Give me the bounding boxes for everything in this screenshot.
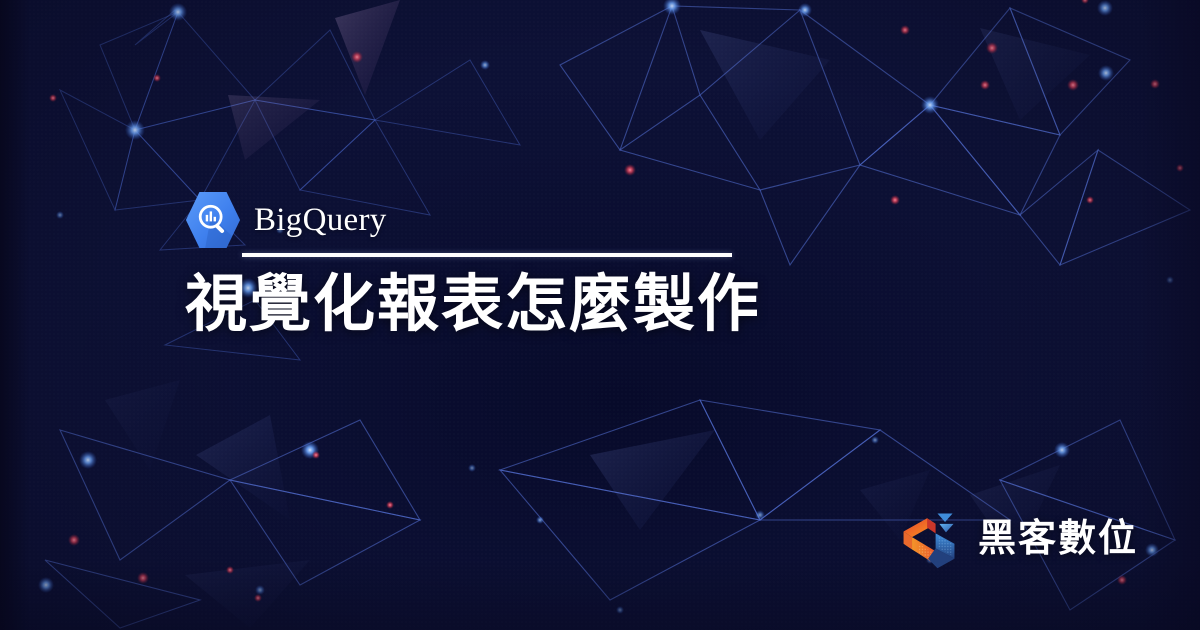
- company-name: 黑客數位: [978, 520, 1138, 558]
- product-brand-row: BigQuery: [185, 190, 885, 250]
- bigquery-hexagon-magnifier-icon: [185, 191, 241, 249]
- footer-company-brand: 黑客數位: [896, 506, 1138, 572]
- hacker-digital-s-mark-icon: [896, 506, 962, 572]
- page-title: 視覺化報表怎麼製作: [185, 272, 885, 337]
- product-name: BigQuery: [254, 204, 387, 237]
- banner-canvas: BigQuery 視覺化報表怎麼製作: [0, 0, 1200, 630]
- headline-block: BigQuery 視覺化報表怎麼製作: [185, 190, 885, 379]
- title-divider-rule: [242, 253, 732, 257]
